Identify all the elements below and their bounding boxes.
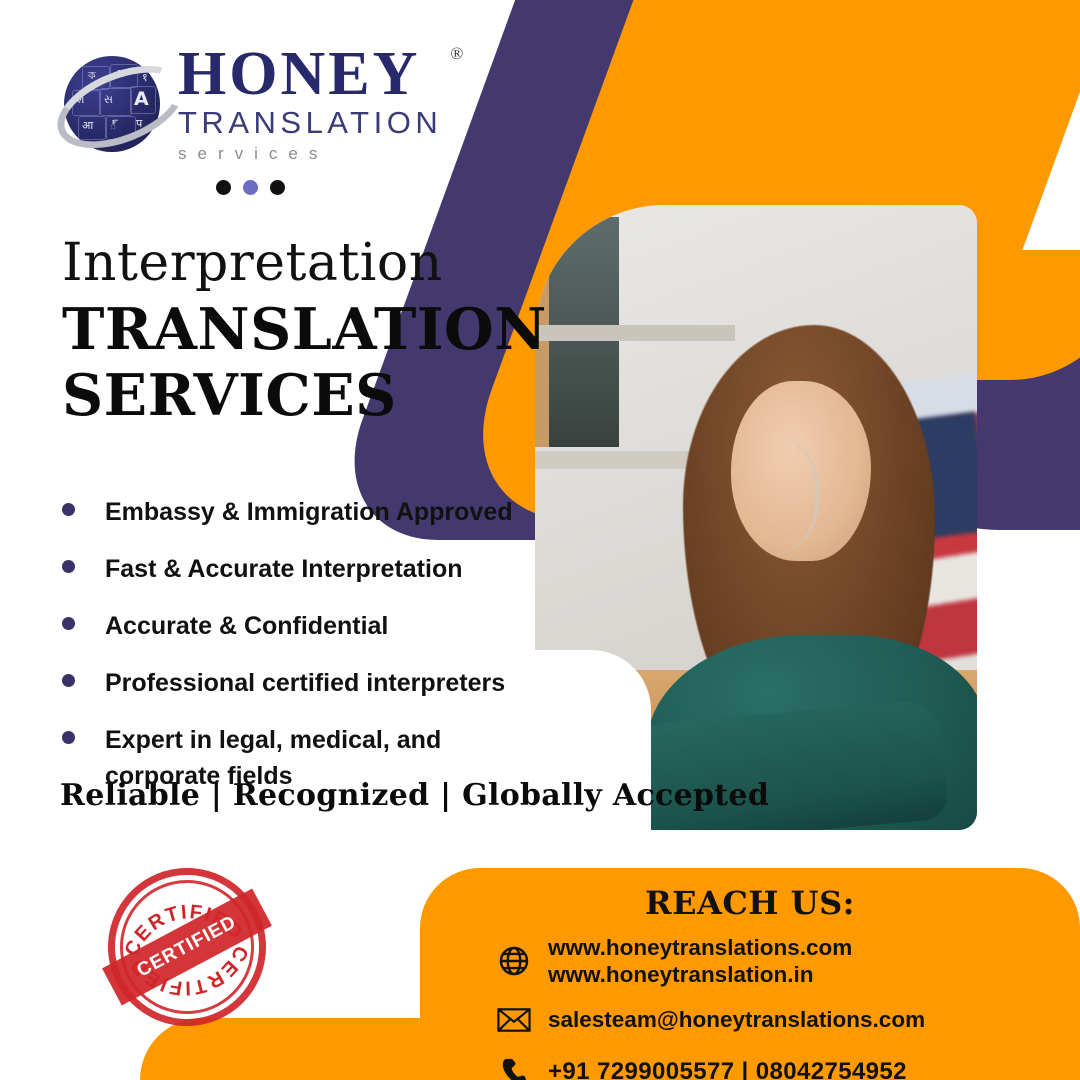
list-item-label: Embassy & Immigration Approved xyxy=(105,494,513,530)
logo-dot-1 xyxy=(216,180,231,195)
list-item: Fast & Accurate Interpretation xyxy=(56,551,536,587)
contact-phone-row[interactable]: +91 7299005577 | 08042754952 xyxy=(490,1051,1080,1080)
website-primary[interactable]: www.honeytranslations.com xyxy=(548,935,852,960)
contact-heading: REACH US: xyxy=(420,884,1080,922)
headline-block: Interpretation TRANSLATION SERVICES xyxy=(62,236,532,429)
list-item-label: Accurate & Confidential xyxy=(105,608,388,644)
headline-line-1: TRANSLATION xyxy=(62,297,532,363)
logo-name: HONEY ® xyxy=(178,44,442,105)
bullet-dot-icon xyxy=(62,503,75,516)
bullet-dot-icon xyxy=(62,731,75,744)
logo-dot-2 xyxy=(243,180,258,195)
globe-logo-icon: ক अ १ શ સ A आ ్ प xyxy=(56,46,172,162)
logo-line-services: services xyxy=(178,144,442,164)
brand-logo: ক अ १ શ સ A आ ్ प HONEY ® TRANSLATION se… xyxy=(56,44,476,195)
list-item-label: Professional certified interpreters xyxy=(105,665,505,701)
bullet-dot-icon xyxy=(62,674,75,687)
contact-section: REACH US: www.honeytranslations.com www.… xyxy=(420,868,1080,1080)
list-item: Embassy & Immigration Approved xyxy=(56,494,536,530)
logo-dot-3 xyxy=(270,180,285,195)
email-address[interactable]: salesteam@honeytranslations.com xyxy=(538,1006,925,1033)
website-links: www.honeytranslations.com www.honeytrans… xyxy=(538,934,852,989)
contact-website-row[interactable]: www.honeytranslations.com www.honeytrans… xyxy=(490,934,1080,989)
poster-canvas: ক अ १ શ સ A आ ్ प HONEY ® TRANSLATION se… xyxy=(0,0,1080,1080)
logo-line-translation: TRANSLATION xyxy=(178,107,442,138)
tagline: Reliable | Recognized | Globally Accepte… xyxy=(60,778,769,813)
contact-email-row[interactable]: salesteam@honeytranslations.com xyxy=(490,999,1080,1041)
feature-list: Embassy & Immigration Approved Fast & Ac… xyxy=(56,494,536,815)
logo-wordmark: HONEY ® TRANSLATION services xyxy=(172,44,442,164)
envelope-icon xyxy=(490,999,538,1041)
headline-script: Interpretation xyxy=(62,236,532,291)
list-item-label: Fast & Accurate Interpretation xyxy=(105,551,462,587)
phone-icon xyxy=(490,1051,538,1080)
registered-trademark-icon: ® xyxy=(450,46,466,63)
certified-stamp-icon: CERTIFIED CERTIFIED CERTIFIED xyxy=(100,860,274,1034)
headline-line-2: SERVICES xyxy=(62,363,532,429)
logo-row: ক अ १ શ સ A आ ్ प HONEY ® TRANSLATION se… xyxy=(56,44,476,164)
list-item: Professional certified interpreters xyxy=(56,665,536,701)
globe-icon xyxy=(490,940,538,982)
bullet-dot-icon xyxy=(62,560,75,573)
photo-shelf-upper xyxy=(535,325,735,341)
phone-numbers[interactable]: +91 7299005577 | 08042754952 xyxy=(538,1057,907,1080)
bullet-dot-icon xyxy=(62,617,75,630)
headline-main: TRANSLATION SERVICES xyxy=(62,297,532,429)
logo-dots xyxy=(216,180,476,195)
website-secondary[interactable]: www.honeytranslation.in xyxy=(548,962,813,987)
list-item: Accurate & Confidential xyxy=(56,608,536,644)
